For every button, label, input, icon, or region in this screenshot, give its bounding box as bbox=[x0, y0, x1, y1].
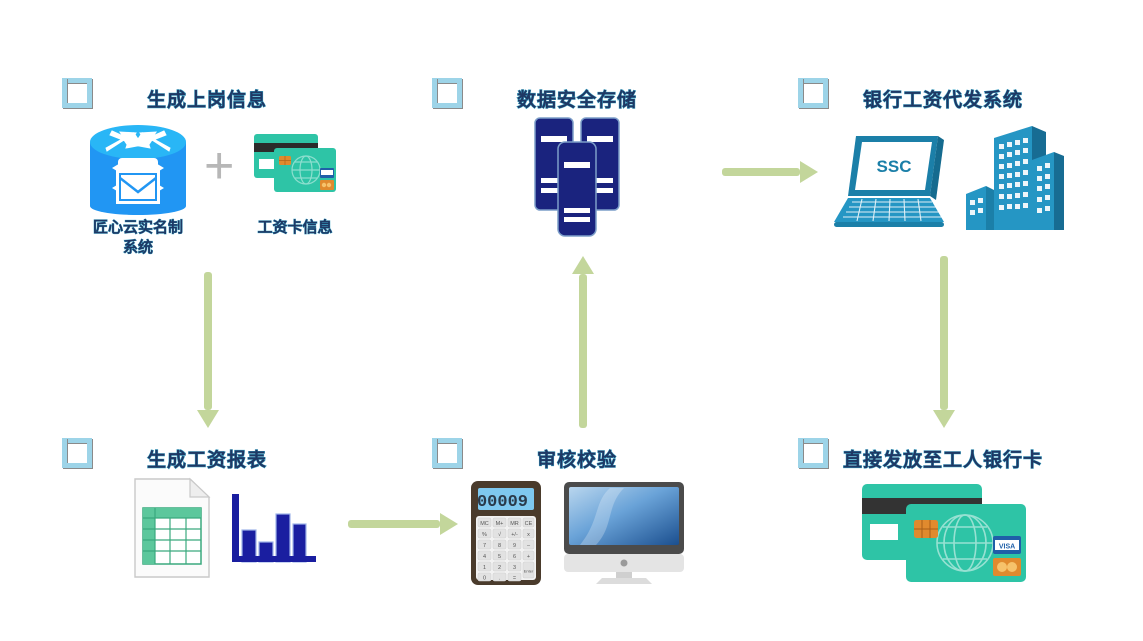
cell-generate-onboarding-info: 生成上岗信息 bbox=[62, 78, 352, 253]
svg-text:9: 9 bbox=[513, 543, 516, 549]
svg-text:+/-: +/- bbox=[511, 532, 518, 538]
cell-generate-salary-report: 生成工资报表 bbox=[62, 438, 352, 613]
svg-text:2: 2 bbox=[498, 565, 501, 571]
laptop-screen-label: SSC bbox=[877, 157, 912, 176]
cell-title-generate-salary-report: 生成工资报表 bbox=[62, 445, 352, 472]
svg-text:5: 5 bbox=[498, 554, 501, 560]
arrow-bank-to-payout bbox=[932, 256, 956, 428]
bank-cards-icon: VISA bbox=[860, 480, 1028, 584]
card-brand-label: VISA bbox=[999, 544, 1015, 551]
svg-text:1: 1 bbox=[483, 565, 486, 571]
desktop-monitor-icon bbox=[560, 480, 688, 586]
svg-text:4: 4 bbox=[483, 554, 486, 560]
cell-title-direct-pay-to-worker-bank-card: 直接发放至工人银行卡 bbox=[798, 445, 1088, 472]
calculator-display-value: 00009 bbox=[477, 493, 528, 512]
svg-text:MC: MC bbox=[480, 521, 489, 527]
svg-text:3: 3 bbox=[513, 565, 516, 571]
arrow-storage-to-bank bbox=[722, 160, 818, 184]
svg-text:=: = bbox=[513, 575, 516, 581]
arrow-report-to-audit bbox=[348, 512, 458, 536]
cell-title-generate-onboarding-info: 生成上岗信息 bbox=[62, 85, 352, 112]
svg-text:%: % bbox=[482, 532, 487, 538]
calculator-icon: 00009 MCM+MRCE bbox=[470, 480, 542, 586]
realname-system-router-icon bbox=[76, 118, 200, 218]
server-stack-icon bbox=[527, 116, 627, 238]
laptop-ssc-icon: SSC bbox=[828, 130, 948, 230]
svg-text:x: x bbox=[527, 532, 530, 538]
cell-audit-verification: 审核校验 00009 bbox=[432, 438, 722, 613]
plus-connector: + bbox=[204, 140, 234, 192]
spreadsheet-document-icon bbox=[134, 478, 210, 578]
svg-text:+: + bbox=[527, 554, 530, 560]
cell-bank-payroll-system: 银行工资代发系统 SSC bbox=[798, 78, 1088, 253]
office-buildings-icon bbox=[960, 120, 1070, 232]
svg-text:M+: M+ bbox=[496, 521, 504, 527]
svg-text:0: 0 bbox=[483, 575, 486, 581]
arrow-onboarding-to-report bbox=[196, 272, 220, 428]
svg-text:Enter: Enter bbox=[524, 569, 534, 574]
arrow-audit-to-storage bbox=[571, 256, 595, 428]
caption-realname-system: 匠心云实名制 系统 bbox=[68, 218, 208, 259]
svg-text:8: 8 bbox=[498, 543, 501, 549]
cell-title-bank-payroll-system: 银行工资代发系统 bbox=[798, 85, 1088, 112]
bar-chart-icon bbox=[230, 486, 318, 572]
cell-direct-pay-to-worker-bank-card: 直接发放至工人银行卡 bbox=[798, 438, 1088, 613]
svg-text:MR: MR bbox=[510, 521, 519, 527]
cell-title-audit-verification: 审核校验 bbox=[432, 445, 722, 472]
flow-diagram-canvas: 生成上岗信息 bbox=[0, 0, 1143, 641]
svg-text:7: 7 bbox=[483, 543, 486, 549]
cell-title-secure-data-storage: 数据安全存储 bbox=[432, 85, 722, 112]
svg-text:CE: CE bbox=[525, 521, 533, 527]
salary-card-icon bbox=[250, 130, 340, 200]
cell-secure-data-storage: 数据安全存储 bbox=[432, 78, 722, 253]
caption-salary-card: 工资卡信息 bbox=[230, 218, 360, 238]
svg-text:6: 6 bbox=[513, 554, 516, 560]
